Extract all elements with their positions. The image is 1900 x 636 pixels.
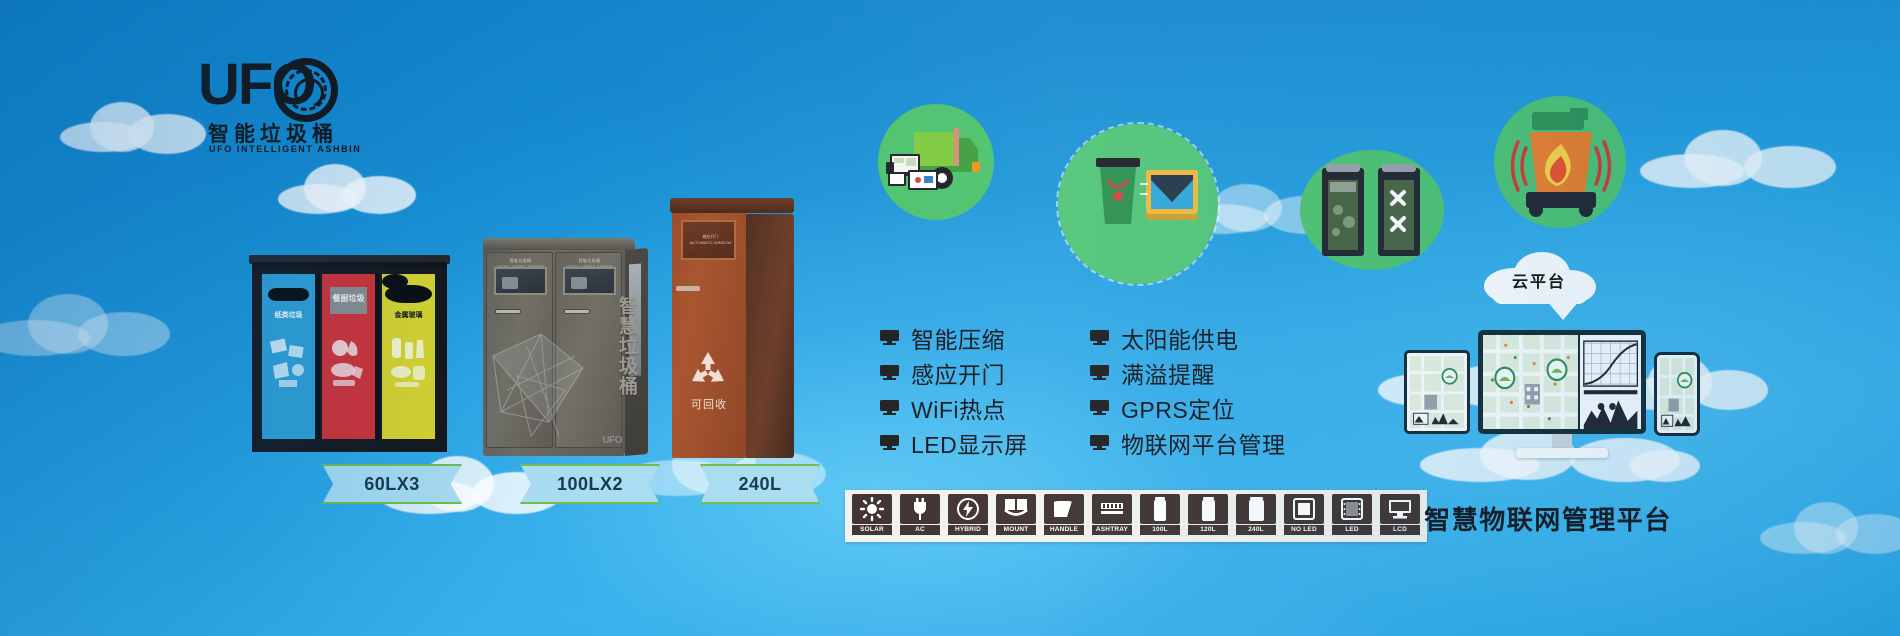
capacity-badge-240l: 240L bbox=[700, 464, 820, 504]
spec-label: 240L bbox=[1236, 525, 1276, 535]
collection-truck-icon bbox=[886, 118, 990, 210]
monitor-icon bbox=[880, 330, 899, 345]
capacity-badge-60l: 60LX3 bbox=[322, 464, 462, 504]
bin-240l-icon bbox=[1236, 494, 1276, 524]
product-bin-100l: 智能垃圾桶 INTELLIGENT ASHBIN 智能垃圾桶 INTELLIGE… bbox=[483, 238, 648, 460]
bin-divider bbox=[315, 274, 320, 439]
ufo-ring-icon bbox=[274, 58, 338, 122]
logo-english-name: UFO INTELLIGENT ASHBIN bbox=[209, 144, 361, 154]
spec-label: HANDLE bbox=[1044, 525, 1084, 535]
monitor-icon bbox=[1090, 330, 1109, 345]
monitor-stand-base bbox=[1516, 448, 1608, 458]
bin-panel-label: 金属玻璃 bbox=[382, 310, 435, 320]
feature-label: 太阳能供电 bbox=[1121, 321, 1239, 355]
feature-item: WiFi热点 bbox=[880, 390, 1028, 425]
growth-chart-graphic bbox=[1580, 335, 1641, 429]
bin-panel-kitchen: 餐厨垃圾 bbox=[322, 274, 375, 439]
smartphone-device bbox=[1654, 352, 1700, 436]
product-bin-240l: 感应开门 AUTOMATIC WINDOW 可回收 bbox=[672, 198, 794, 460]
metal-glass-illustration bbox=[387, 332, 430, 390]
cloud-decoration bbox=[1760, 500, 1900, 556]
spec-label: HYBRID bbox=[948, 525, 988, 535]
feature-item: LED显示屏 bbox=[880, 425, 1028, 460]
product-bin-60l: 纸类垃圾 餐厨垃圾 金属玻璃 bbox=[252, 262, 447, 452]
phone-screen bbox=[1660, 358, 1694, 430]
desktop-monitor bbox=[1478, 330, 1646, 434]
spec-option-handle[interactable]: HANDLE bbox=[1042, 494, 1086, 538]
ufo-ring-inner-icon bbox=[289, 73, 328, 112]
monitor-icon bbox=[1090, 435, 1109, 450]
cloud-decoration bbox=[278, 160, 428, 218]
bin-panel-paper: 纸类垃圾 bbox=[262, 274, 315, 439]
mini-map-dashboard bbox=[1660, 358, 1694, 430]
bin-100l-icon bbox=[1140, 494, 1180, 524]
cloud-decoration bbox=[0, 290, 180, 360]
bin-display-screen bbox=[563, 267, 616, 295]
monitor-screen bbox=[1483, 335, 1641, 429]
iot-platform-title: 智慧物联网管理平台 bbox=[1398, 500, 1698, 537]
spec-label: 120L bbox=[1188, 525, 1228, 535]
monitor-icon bbox=[1090, 365, 1109, 380]
fire-alarm-icon bbox=[1508, 106, 1614, 218]
waste-slot-icon bbox=[268, 288, 309, 301]
spec-label: AC bbox=[900, 525, 940, 535]
feature-item: 物联网平台管理 bbox=[1090, 425, 1286, 460]
tablet-screen bbox=[1410, 356, 1464, 428]
fill-sensor-icon bbox=[1072, 140, 1204, 264]
monitor-icon bbox=[880, 435, 899, 450]
spec-label: LED bbox=[1332, 525, 1372, 535]
bin-display-screen: 感应开门 AUTOMATIC WINDOW bbox=[681, 220, 736, 260]
spec-option-ashtray[interactable]: ASHTRAY bbox=[1090, 494, 1134, 538]
screen-caption: 感应开门 AUTOMATIC WINDOW bbox=[683, 234, 738, 247]
spec-option-solar[interactable]: SOLAR bbox=[850, 494, 894, 538]
spec-option-ac[interactable]: AC bbox=[898, 494, 942, 538]
spec-option-120l[interactable]: 120L bbox=[1186, 494, 1230, 538]
bin-top-cover bbox=[483, 238, 635, 250]
recycle-symbol-icon bbox=[686, 348, 730, 392]
feature-list-left: 智能压缩 感应开门 WiFi热点 LED显示屏 bbox=[880, 320, 1028, 460]
spec-option-mount[interactable]: MOUNT bbox=[994, 494, 1038, 538]
bin-door-right: 智能垃圾桶 INTELLIGENT ASHBIN bbox=[555, 252, 622, 448]
analytics-chart-pane bbox=[1578, 335, 1641, 429]
city-map-graphic bbox=[1483, 335, 1578, 429]
spec-label: NO LED bbox=[1284, 525, 1324, 535]
bin-door-left: 智能垃圾桶 INTELLIGENT ASHBIN bbox=[486, 252, 553, 448]
cloud-platform-badge: 云平台 bbox=[1480, 250, 1598, 306]
monitor-icon bbox=[1090, 400, 1109, 415]
bin-body-text: 智慧垃圾桶 bbox=[616, 296, 638, 396]
feature-item: GPRS定位 bbox=[1090, 390, 1286, 425]
bin-display-screen bbox=[494, 267, 547, 295]
led-icon bbox=[1332, 494, 1372, 524]
cloud-platform-label: 云平台 bbox=[1480, 268, 1598, 292]
tablet-device bbox=[1404, 350, 1470, 434]
feature-item: 智能压缩 bbox=[880, 320, 1028, 355]
feature-item: 太阳能供电 bbox=[1090, 320, 1286, 355]
bin-handle bbox=[495, 309, 521, 314]
ufo-brand-logo: UFO 智能垃圾桶 UFO INTELLIGENT ASHBIN bbox=[196, 56, 366, 156]
spec-option-hybrid[interactable]: HYBRID bbox=[946, 494, 990, 538]
mount-icon bbox=[996, 494, 1036, 524]
capacity-badge-100l: 100LX2 bbox=[520, 464, 660, 504]
handle-icon bbox=[1044, 494, 1084, 524]
ashtray-icon bbox=[1092, 494, 1132, 524]
spec-label: MOUNT bbox=[996, 525, 1036, 535]
bin-handle bbox=[676, 286, 700, 291]
compaction-bins-icon bbox=[1316, 160, 1428, 262]
bin-120l-icon bbox=[1188, 494, 1228, 524]
feature-label: 满溢提醒 bbox=[1121, 356, 1215, 390]
feature-item: 感应开门 bbox=[880, 355, 1028, 390]
no-led-icon bbox=[1284, 494, 1324, 524]
spec-option-led[interactable]: LED bbox=[1330, 494, 1374, 538]
feature-label: WiFi热点 bbox=[911, 391, 1006, 425]
map-dashboard-pane bbox=[1483, 335, 1578, 429]
spec-option-no-led[interactable]: NO LED bbox=[1282, 494, 1326, 538]
feature-label: 智能压缩 bbox=[911, 321, 1005, 355]
cloud-decoration bbox=[1640, 126, 1840, 192]
bin-handle bbox=[564, 309, 590, 314]
bin-recycle-label: 可回收 bbox=[672, 396, 746, 412]
bin-panel-label: 餐厨垃圾 bbox=[322, 293, 375, 304]
feature-label: 感应开门 bbox=[911, 356, 1005, 390]
plug-icon bbox=[900, 494, 940, 524]
bin-divider bbox=[375, 274, 380, 439]
spec-option-strip: SOLAR AC HYBRID MOUNT bbox=[845, 490, 1427, 542]
sun-icon bbox=[852, 494, 892, 524]
bin-side-panel bbox=[746, 214, 794, 458]
mini-map-dashboard bbox=[1410, 356, 1464, 428]
product-banner: UFO 智能垃圾桶 UFO INTELLIGENT ASHBIN 纸类垃圾 餐厨… bbox=[0, 0, 1900, 636]
feature-label: GPRS定位 bbox=[1121, 391, 1235, 425]
food-waste-illustration bbox=[327, 332, 370, 390]
spec-label: 100L bbox=[1140, 525, 1180, 535]
bin-panel-label: 纸类垃圾 bbox=[262, 310, 315, 320]
hybrid-power-icon bbox=[948, 494, 988, 524]
bin-brandmark: UFO bbox=[602, 435, 622, 446]
recycling-illustration bbox=[267, 332, 310, 390]
feature-item: 满溢提醒 bbox=[1090, 355, 1286, 390]
monitor-icon bbox=[880, 365, 899, 380]
feature-label: 物联网平台管理 bbox=[1121, 426, 1286, 460]
spec-option-100l[interactable]: 100L bbox=[1138, 494, 1182, 538]
waste-slot-icon bbox=[385, 285, 432, 303]
spec-label: SOLAR bbox=[852, 525, 892, 535]
feature-label: LED显示屏 bbox=[911, 426, 1028, 460]
feature-list-right: 太阳能供电 满溢提醒 GPRS定位 物联网平台管理 bbox=[1090, 320, 1286, 460]
bin-top-cover bbox=[670, 198, 794, 213]
monitor-stand-neck bbox=[1552, 434, 1572, 448]
bin-panel-metal-glass: 金属玻璃 bbox=[382, 274, 435, 439]
spec-label: ASHTRAY bbox=[1092, 525, 1132, 535]
monitor-icon bbox=[880, 400, 899, 415]
data-flow-arrow-icon bbox=[1546, 300, 1580, 320]
spec-option-240l[interactable]: 240L bbox=[1234, 494, 1278, 538]
